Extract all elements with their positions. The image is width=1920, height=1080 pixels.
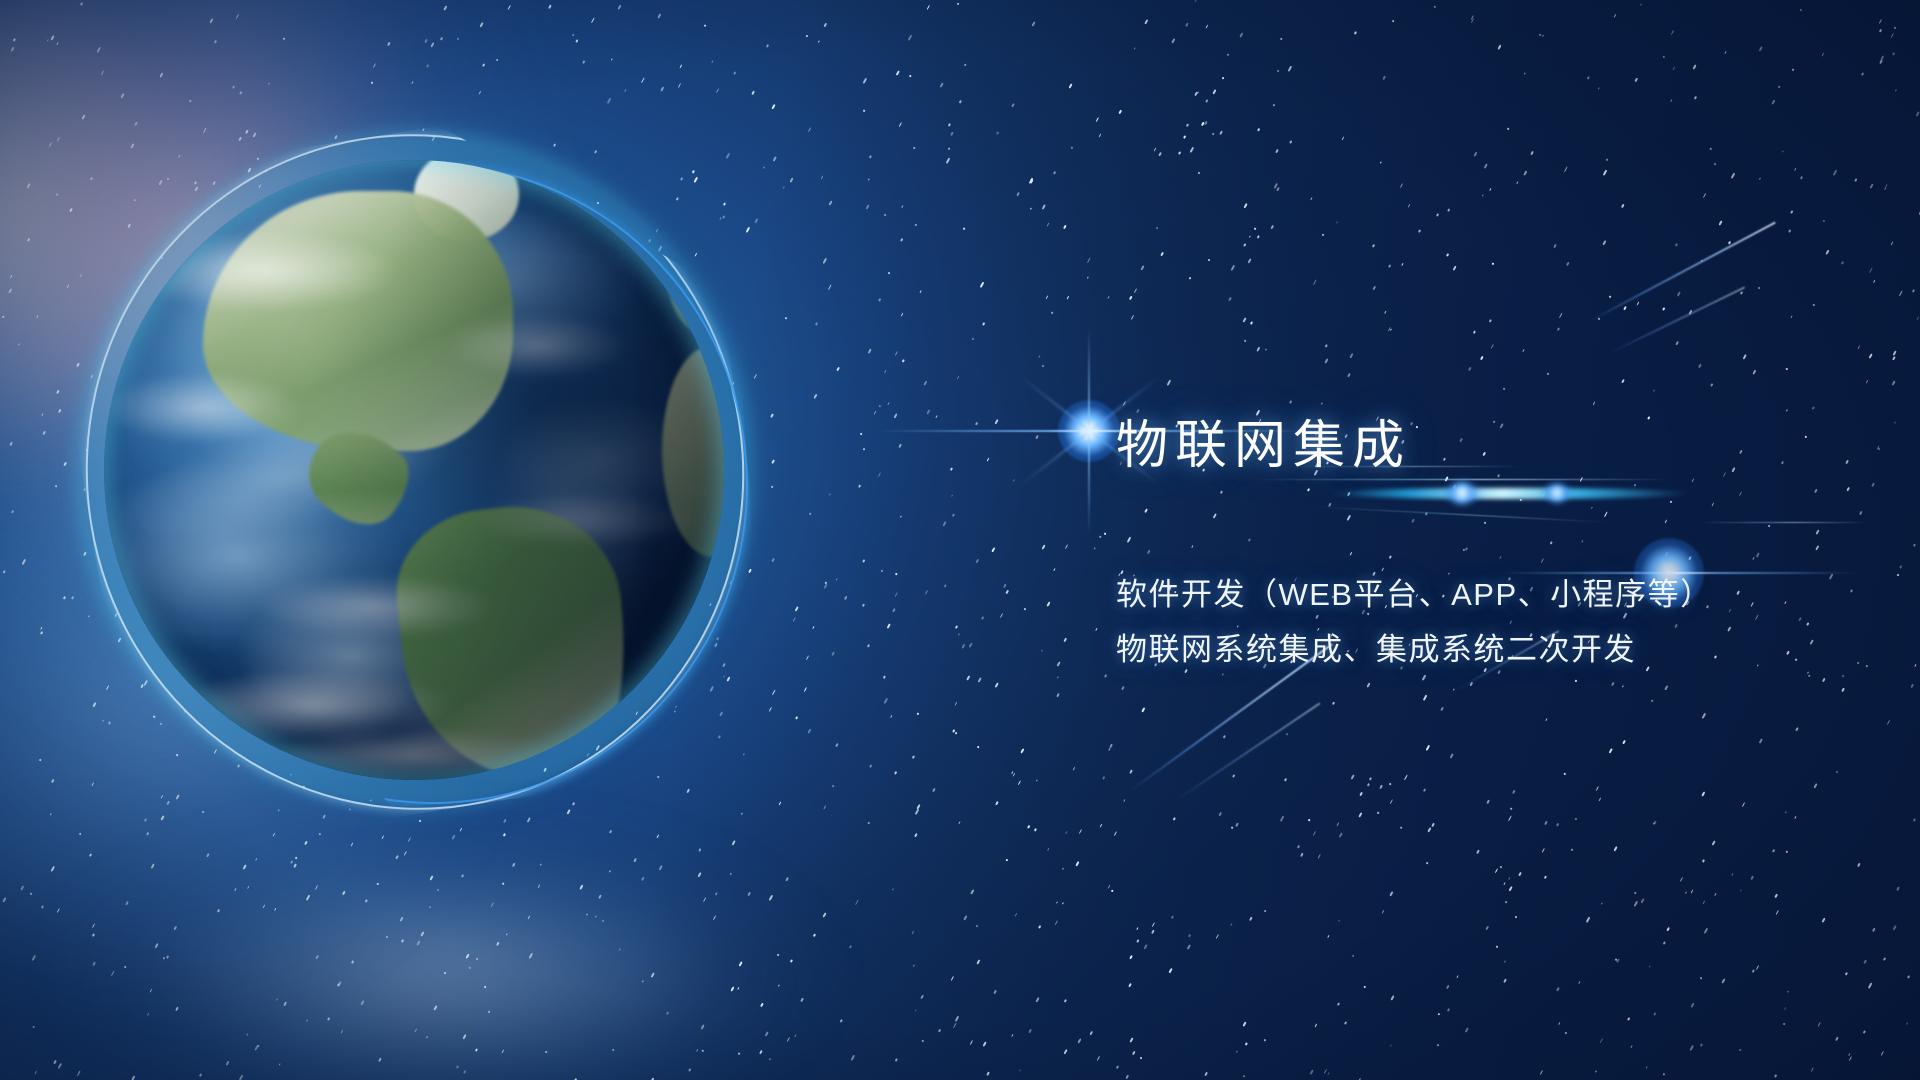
hero-subtitle-1: 软件开发（WEB平台、APP、小程序等） [1116,579,1816,610]
earth-globe [104,160,724,780]
bottom-mist [60,810,880,1080]
hero-subtitle-2: 物联网系统集成、集成系统二次开发 [1116,634,1816,665]
page-title: 物联网集成 [1116,420,1816,472]
globe-rim-light [104,160,724,780]
hero-copy: 物联网集成 软件开发（WEB平台、APP、小程序等） 物联网系统集成、集成系统二… [1116,420,1816,665]
hero-banner: 物联网集成 软件开发（WEB平台、APP、小程序等） 物联网系统集成、集成系统二… [0,0,1920,1080]
globe-sphere [104,160,724,780]
